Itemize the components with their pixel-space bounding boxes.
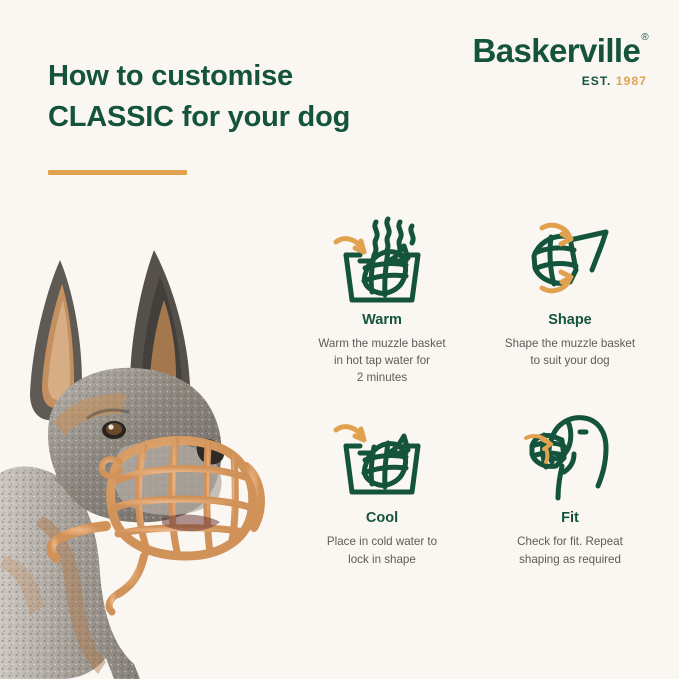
- established-year: 1987: [616, 74, 647, 88]
- dog-head-outline: [549, 418, 606, 498]
- steps-grid: Warm Warm the muzzle basket in hot tap w…: [292, 206, 660, 568]
- step-title: Shape: [484, 312, 656, 328]
- brand-logo: Baskerville® EST. 1987: [473, 34, 647, 88]
- steam-lines: [375, 219, 413, 253]
- basin-steam-icon: [296, 206, 468, 310]
- step-description: Shape the muzzle basket to suit your dog: [484, 335, 656, 369]
- step-shape: Shape Shape the muzzle basket to suit yo…: [480, 206, 660, 386]
- basin-cold-icon: [296, 404, 468, 508]
- step-description: Check for fit. Repeat shaping as require…: [484, 533, 656, 567]
- step-description: Place in cold water to lock in shape: [296, 533, 468, 567]
- step-fit: Fit Check for fit. Repeat shaping as req…: [480, 404, 660, 567]
- brand-name: Baskerville®: [473, 34, 647, 67]
- muzzle-in-basin: [364, 251, 406, 295]
- dog-photo: [0, 226, 294, 679]
- brand-established: EST. 1987: [473, 74, 647, 88]
- pour-arrow: [336, 239, 364, 252]
- established-label: EST.: [582, 74, 612, 88]
- step-cool: Cool Place in cold water to lock in shap…: [292, 404, 472, 567]
- dog-head-muzzle-icon: [484, 404, 656, 508]
- dog-eye: [102, 421, 126, 439]
- step-title: Warm: [296, 312, 468, 328]
- title-underline-rule: [48, 170, 187, 175]
- muzzle-shape-arrows-icon: [484, 206, 656, 310]
- step-description: Warm the muzzle basket in hot tap water …: [296, 335, 468, 386]
- muzzle-in-basin: [364, 443, 406, 487]
- registered-mark-icon: ®: [641, 32, 648, 43]
- page-title: How to customise CLASSIC for your dog: [48, 56, 350, 138]
- brand-name-text: Baskerville: [473, 32, 641, 69]
- step-title: Cool: [296, 510, 468, 526]
- step-warm: Warm Warm the muzzle basket in hot tap w…: [292, 206, 472, 386]
- step-title: Fit: [484, 510, 656, 526]
- pour-arrow: [336, 427, 364, 440]
- promo-graphic: How to customise CLASSIC for your dog Ba…: [0, 0, 679, 679]
